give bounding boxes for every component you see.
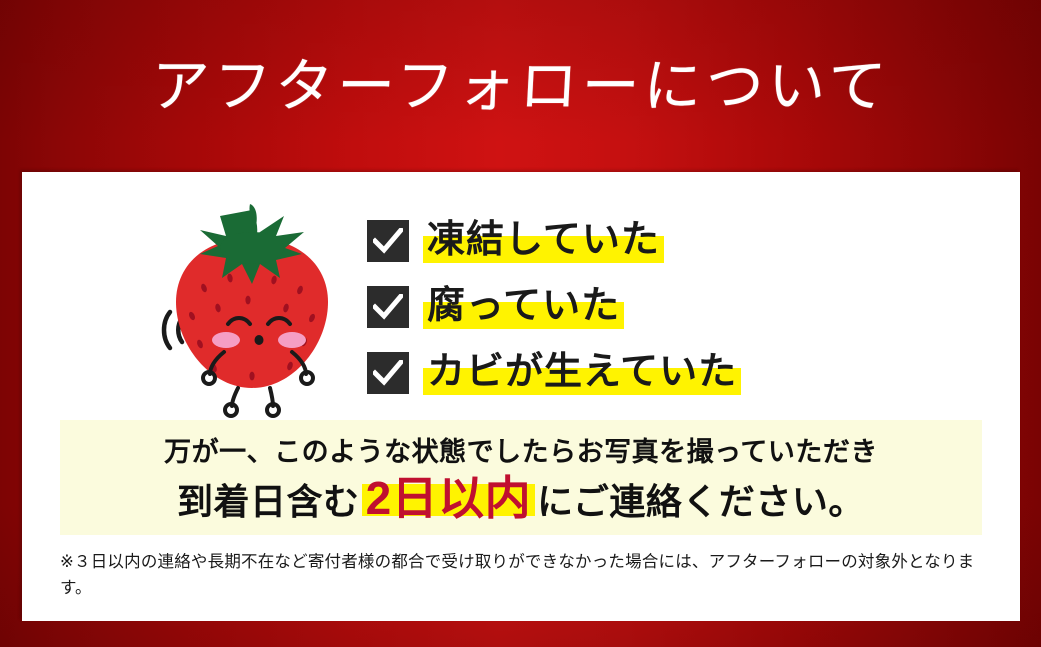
page-title: アフターフォローについて — [150, 57, 892, 115]
checklist-item-rotten[interactable]: 腐っていた — [367, 274, 987, 340]
checkmark-icon[interactable] — [367, 352, 409, 394]
notice-line-1: 万が一、このような状態でしたらお写真を撮っていただき — [164, 430, 878, 469]
content-card: 凍結していた 腐っていた — [22, 172, 1020, 621]
checklist-item-frozen[interactable]: 凍結していた — [367, 208, 987, 274]
checkmark-icon[interactable] — [367, 220, 409, 262]
notice-line-2-after: にご連絡ください。 — [537, 473, 865, 525]
checklist-item-label: カビが生えていた — [423, 351, 741, 395]
title-band: アフターフォローについて — [0, 0, 1041, 172]
checklist-item-label: 腐っていた — [423, 285, 624, 329]
notice-line-2: 到着日含む 2日以内 にご連絡ください。 — [177, 473, 865, 525]
deadline-emphasis: 2日以内 — [362, 475, 536, 521]
issue-checklist: 凍結していた 腐っていた — [367, 208, 987, 406]
poster-root: アフターフォローについて — [0, 0, 1041, 647]
checklist-item-label: 凍結していた — [423, 219, 664, 263]
contact-notice-panel: 万が一、このような状態でしたらお写真を撮っていただき 到着日含む 2日以内 にご… — [60, 420, 982, 535]
footnote-text: ※３日以内の連絡や長期不在など寄付者様の都合で受け取りができなかった場合には、ア… — [60, 550, 988, 601]
notice-line-2-before: 到着日含む — [177, 473, 360, 525]
checklist-item-moldy[interactable]: カビが生えていた — [367, 340, 987, 406]
strawberry-mascot-icon — [152, 192, 352, 422]
checkmark-icon[interactable] — [367, 286, 409, 328]
